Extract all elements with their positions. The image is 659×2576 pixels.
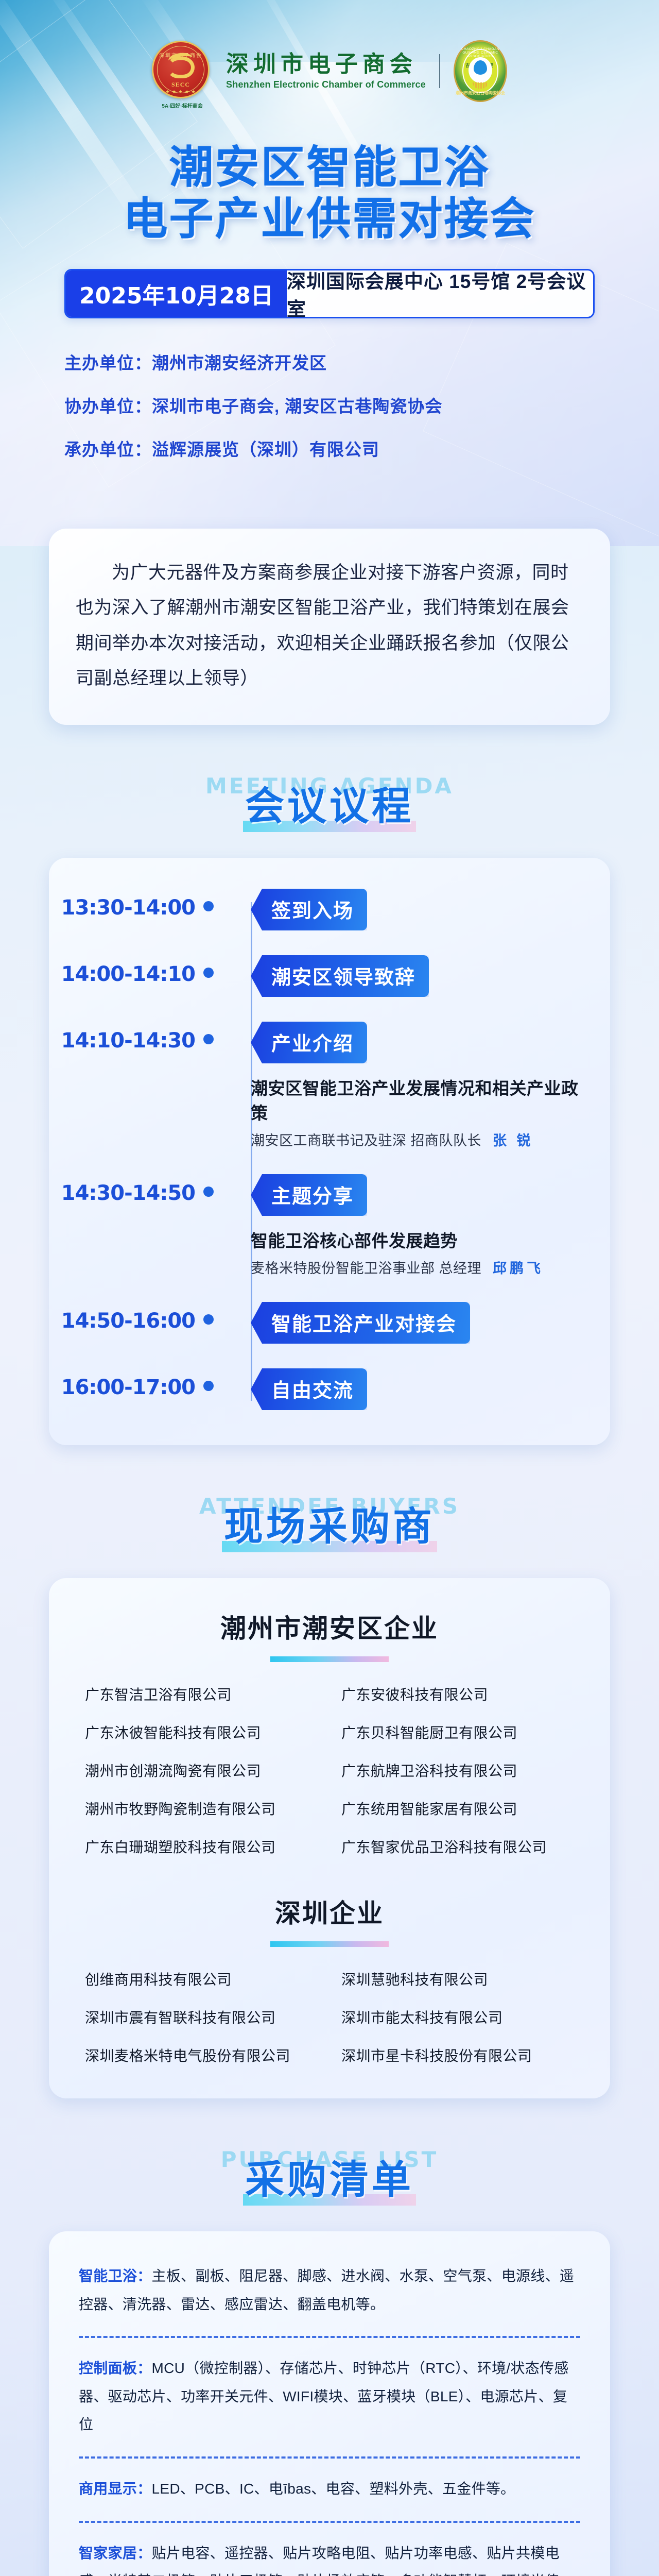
agenda-body: 签到入场 [251,889,610,930]
purchase-title: 采购清单 [245,2148,414,2205]
list-item: 广东安彼科技有限公司 [341,1684,574,1704]
agenda-time: 14:30-14:50 [49,1174,203,1205]
timeline-dot-icon [203,1314,214,1325]
organizer-coorganizer: 协办单位：深圳市电子商会, 潮安区古巷陶瓷协会 [64,393,595,417]
page-title-line2: 电子产业供需对接会 [0,194,659,245]
chaozhou-seal-oval: 古巷 陶瓷 CHAOZHOU CHAOAN GUXIANG CERAMIC AS… [454,40,507,102]
buyer-group-name: 潮州市潮安区企业 [85,1608,574,1645]
list-item: 深圳慧驰科技有限公司 [341,1969,574,1989]
buyer-group-spacer [85,1857,574,1893]
buyer-company-grid: 广东智洁卫浴有限公司 广东安彼科技有限公司 广东沐彼智能科技有限公司 广东贝科智… [85,1684,574,1857]
hero-section: 深圳市电子商会 SECC ★ ★ ★ ★ ★ 5A·四好·标杆商会 深圳市电子商… [0,0,659,546]
agenda-row: 13:30-14:00 签到入场 [49,889,610,930]
list-item: 广东贝科智能厨卫有限公司 [341,1722,574,1742]
agenda-title: 会议议程 [245,774,414,831]
chaozhou-ceramic-association-logo: 古巷 陶瓷 CHAOZHOU CHAOAN GUXIANG CERAMIC AS… [454,40,507,102]
agenda-speaker-name: 张 锐 [493,1133,534,1148]
agenda-body: 智能卫浴产业对接会 [251,1302,610,1344]
purchase-item-key: 控制面板： [79,2360,152,2376]
purchase-item-text: 商用显示：LED、PCB、IC、电ības、电容、塑料外壳、五金件等。 [79,2475,580,2503]
poster-page: 深圳市电子商会 SECC ★ ★ ★ ★ ★ 5A·四好·标杆商会 深圳市电子商… [0,0,659,2576]
agenda-dot-wrap [203,955,251,978]
list-item: 深圳市能太科技有限公司 [341,2007,574,2027]
purchase-card: 智能卫浴：主板、副板、阻尼器、脚感、进水阀、水泵、空气泵、电源线、遥控器、清洗器… [49,2231,610,2576]
purchase-item-text: 控制面板：MCU（微控制器）、存储芯片、时钟芯片（RTC）、环境/状态传感器、驱… [79,2354,580,2439]
chaozhou-seal-en: CHAOZHOU CHAOAN GUXIANG CERAMIC ASSOCIAT… [455,47,506,58]
purchase-item-key: 商用显示： [79,2481,152,2497]
timeline-dot-icon [203,901,214,911]
agenda-body: 产业介绍 潮安区智能卫浴产业发展情况和相关产业政策 潮安区工商联书记及驻深 招商… [251,1022,610,1149]
purchase-item-text: 智家家居：贴片电容、遥控器、贴片攻略电阻、贴片功率电感、贴片共模电感、肖特基二极… [79,2539,580,2576]
timeline-dot-icon [203,968,214,978]
agenda-pill: 智能卫浴产业对接会 [251,1302,470,1344]
agenda-spacer [49,1279,610,1302]
buyers-card: 潮州市潮安区企业 广东智洁卫浴有限公司 广东安彼科技有限公司 广东沐彼智能科技有… [49,1578,610,2098]
buyers-section-heading: ATTENDEE BUYERS 现场采购商 [0,1445,659,1578]
agenda-section-heading: MEETING AGENDA 会议议程 [0,725,659,858]
list-item: 潮州市牧野陶瓷制造有限公司 [85,1798,318,1819]
agenda-spacer [49,999,610,1022]
secc-seal-abbr: SECC [153,81,208,89]
agenda-topic: 智能卫浴核心部件发展趋势 [251,1227,584,1252]
purchase-item: 智家家居：贴片电容、遥控器、贴片攻略电阻、贴片功率电感、贴片共模电感、肖特基二极… [79,2539,580,2576]
page-title-line1: 潮安区智能卫浴 [0,142,659,194]
agenda-spacer [49,1346,610,1368]
page-title: 潮安区智能卫浴 电子产业供需对接会 [0,142,659,245]
purchase-item-key: 智家家居： [79,2545,152,2561]
agenda-speaker: 潮安区工商联书记及驻深 招商队队长张 锐 [251,1129,584,1149]
buyer-group-underline [270,1656,389,1662]
agenda-speaker-role: 麦格米特股份智能卫浴事业部 总经理 [251,1261,481,1276]
organizer-host: 主办单位：潮州市潮安经济开发区 [64,349,595,374]
secc-seal-stars: ★ ★ ★ ★ ★ [153,89,208,95]
organizer-list: 主办单位：潮州市潮安经济开发区 协办单位：深圳市电子商会, 潮安区古巷陶瓷协会 … [64,349,595,461]
agenda-pill: 潮安区领导致辞 [251,955,429,997]
timeline-dot-icon [203,1381,214,1391]
agenda-row: 14:50-16:00 智能卫浴产业对接会 [49,1302,610,1344]
agenda-card: 13:30-14:00 签到入场 14:00-14:10 潮安区领导致辞 14:… [49,858,610,1445]
agenda-time: 14:50-16:00 [49,1302,203,1333]
agenda-dot-wrap [203,1174,251,1197]
agenda-speaker-name: 邱鹏飞 [493,1261,544,1276]
list-item: 深圳市震有智联科技有限公司 [85,2007,318,2027]
agenda-pill: 主题分享 [251,1174,367,1216]
secc-wordmark-en: Shenzhen Electronic Chamber of Commerce [226,79,426,90]
purchase-item-value: 贴片电容、遥控器、贴片攻略电阻、贴片功率电感、贴片共模电感、肖特基二极管、贴片三… [79,2545,569,2576]
agenda-spacer [49,1151,610,1174]
agenda-dot-wrap [203,889,251,911]
purchase-divider [79,2456,580,2459]
secc-seal-logo: 深圳市电子商会 SECC ★ ★ ★ ★ ★ 5A·四好·标杆商会 [152,41,213,101]
list-item: 潮州市创潮流陶瓷有限公司 [85,1760,318,1781]
agenda-body: 主题分享 智能卫浴核心部件发展趋势 麦格米特股份智能卫浴事业部 总经理邱鹏飞 [251,1174,610,1277]
secc-e-glyph-icon [167,57,195,78]
intro-card: 为广大元器件及方案商参展企业对接下游客户资源，同时也为深入了解潮州市潮安区智能卫… [49,529,610,725]
agenda-time: 16:00-17:00 [49,1368,203,1399]
agenda-speaker: 麦格米特股份智能卫浴事业部 总经理邱鹏飞 [251,1257,584,1277]
purchase-item-value: LED、PCB、IC、电ības、电容、塑料外壳、五金件等。 [152,2481,515,2497]
event-date: 2025年10月28日 [66,270,287,317]
chaozhou-seal-core [469,57,492,83]
water-drop-icon [474,60,487,75]
logo-row: 深圳市电子商会 SECC ★ ★ ★ ★ ★ 5A·四好·标杆商会 深圳市电子商… [0,0,659,102]
chaozhou-seal-bottom: 潮州市潮安区古巷陶瓷协会 [455,90,506,96]
list-item: 深圳市星卡科技股份有限公司 [341,2045,574,2065]
list-item: 深圳麦格米特电气股份有限公司 [85,2045,318,2065]
buyer-company-grid: 创维商用科技有限公司 深圳慧驰科技有限公司 深圳市震有智联科技有限公司 深圳市能… [85,1969,574,2065]
intro-card-wrapper: 为广大元器件及方案商参展企业对接下游客户资源，同时也为深入了解潮州市潮安区智能卫… [0,529,659,725]
organizer-undertaker: 承办单位：溢辉源展览（深圳）有限公司 [64,436,595,461]
agenda-time: 13:30-14:00 [49,889,203,920]
timeline-dot-icon [203,1034,214,1044]
event-venue: 深圳国际会展中心 15号馆 2号会议室 [287,270,593,317]
agenda-pill: 签到入场 [251,889,367,930]
purchase-item-text: 智能卫浴：主板、副板、阻尼器、脚感、进水阀、水泵、空气泵、电源线、遥控器、清洗器… [79,2262,580,2318]
list-item: 广东智家优品卫浴科技有限公司 [341,1836,574,1857]
agenda-dot-wrap [203,1302,251,1325]
purchase-item: 控制面板：MCU（微控制器）、存储芯片、时钟芯片（RTC）、环境/状态传感器、驱… [79,2354,580,2439]
agenda-row: 16:00-17:00 自由交流 [49,1368,610,1410]
agenda-dot-wrap [203,1368,251,1391]
purchase-item-key: 智能卫浴： [79,2268,152,2284]
buyer-group-heading: 深圳企业 [85,1893,574,1947]
agenda-speaker-role: 潮安区工商联书记及驻深 招商队队长 [251,1133,481,1148]
timeline-dot-icon [203,1187,214,1197]
agenda-row: 14:00-14:10 潮安区领导致辞 [49,955,610,997]
agenda-pill: 自由交流 [251,1368,367,1410]
buyers-title: 现场采购商 [224,1495,435,1551]
logo-divider [439,54,440,88]
agenda-pill: 产业介绍 [251,1022,367,1063]
agenda-body: 自由交流 [251,1368,610,1410]
agenda-topic: 潮安区智能卫浴产业发展情况和相关产业政策 [251,1075,584,1124]
buyer-group-underline [270,1941,389,1947]
purchase-item: 商用显示：LED、PCB、IC、电ības、电容、塑料外壳、五金件等。 [79,2475,580,2503]
agenda-row: 14:10-14:30 产业介绍 潮安区智能卫浴产业发展情况和相关产业政策 潮安… [49,1022,610,1149]
purchase-divider [79,2336,580,2338]
list-item: 创维商用科技有限公司 [85,1969,318,1989]
purchase-divider [79,2521,580,2523]
date-venue-bar: 2025年10月28日 深圳国际会展中心 15号馆 2号会议室 [64,269,595,318]
secc-badge-label: 5A·四好·标杆商会 [152,101,213,109]
agenda-body: 潮安区领导致辞 [251,955,610,997]
hands-icon [473,82,488,89]
intro-paragraph: 为广大元器件及方案商参展企业对接下游客户资源，同时也为深入了解潮州市潮安区智能卫… [76,555,583,696]
list-item: 广东沐彼智能科技有限公司 [85,1722,318,1742]
agenda-time: 14:10-14:30 [49,1022,203,1053]
purchase-item: 智能卫浴：主板、副板、阻尼器、脚感、进水阀、水泵、空气泵、电源线、遥控器、清洗器… [79,2262,580,2318]
list-item: 广东统用智能家居有限公司 [341,1798,574,1819]
secc-wordmark: 深圳市电子商会 Shenzhen Electronic Chamber of C… [226,52,426,90]
list-item: 广东智洁卫浴有限公司 [85,1684,318,1704]
list-item: 广东白珊瑚塑胶科技有限公司 [85,1836,318,1857]
agenda-spacer [49,933,610,955]
buyer-group-name: 深圳企业 [85,1893,574,1930]
list-item: 广东航牌卫浴科技有限公司 [341,1760,574,1781]
purchase-section-heading: PURCHASE LIST 采购清单 [0,2098,659,2231]
agenda-row: 14:30-14:50 主题分享 智能卫浴核心部件发展趋势 麦格米特股份智能卫浴… [49,1174,610,1277]
agenda-time: 14:00-14:10 [49,955,203,986]
purchase-item-value: MCU（微控制器）、存储芯片、时钟芯片（RTC）、环境/状态传感器、驱动芯片、功… [79,2360,569,2432]
secc-wordmark-cn: 深圳市电子商会 [226,52,426,77]
secc-seal-disc: 深圳市电子商会 SECC ★ ★ ★ ★ ★ [152,41,210,98]
purchase-item-value: 主板、副板、阻尼器、脚感、进水阀、水泵、空气泵、电源线、遥控器、清洗器、雷达、感… [79,2268,574,2312]
buyer-group-heading: 潮州市潮安区企业 [85,1608,574,1662]
agenda-dot-wrap [203,1022,251,1044]
